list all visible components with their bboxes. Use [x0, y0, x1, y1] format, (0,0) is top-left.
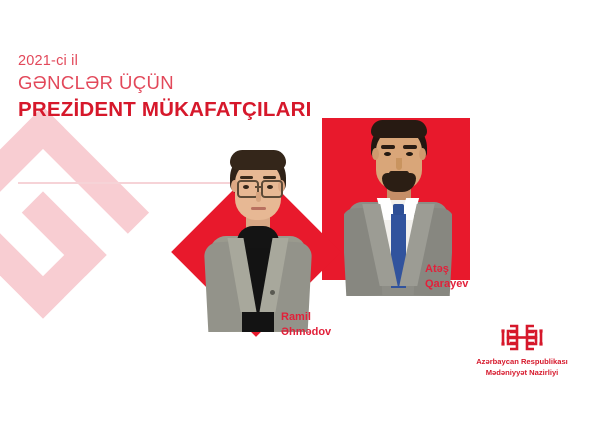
ministry-name-line1: Azərbaycan Respublikası [456, 356, 588, 367]
nose [256, 192, 261, 202]
eye-right [406, 152, 413, 156]
hair-fringe [230, 150, 286, 170]
page-title: PREZİDENT MÜKAFATÇILARI [18, 97, 348, 124]
moustache [389, 171, 409, 176]
watermark-bar [22, 107, 149, 234]
first-name: Atəş [425, 262, 468, 277]
name-label-ramil-ehmedov: Ramil Əhmədov [281, 310, 331, 340]
ear-right [419, 148, 426, 160]
blazer-button [270, 290, 275, 295]
eyebrow-right [263, 176, 276, 179]
first-name: Ramil [281, 310, 331, 325]
eyebrow-left [381, 145, 395, 149]
eye-left [384, 152, 391, 156]
eyeglasses-bridge [255, 186, 261, 188]
mouth [251, 207, 266, 210]
ear-left [372, 148, 379, 160]
poster-canvas: 2021-ci il GƏNCLƏR ÜÇÜN PREZİDENT MÜKAFA… [0, 0, 600, 448]
azerbaijan-culture-ministry-knot-icon [499, 322, 545, 353]
name-label-ates-qarayev: Atəş Qarayev [425, 262, 468, 292]
ministry-name-line2: Mədəniyyət Nazirliyi [456, 367, 588, 378]
last-name: Qarayev [425, 277, 468, 292]
title-year: 2021-ci il [18, 52, 348, 70]
pink-spiral-watermark [0, 107, 191, 404]
hair-fringe [371, 120, 427, 138]
title-block: 2021-ci il GƏNCLƏR ÜÇÜN PREZİDENT MÜKAFA… [18, 52, 348, 124]
photo-ramil-ehmedov [204, 150, 312, 332]
eyebrow-right [403, 145, 417, 149]
watermark-bar [22, 234, 107, 319]
watermark-bar [0, 191, 64, 318]
eyeglasses-lens-right [261, 180, 283, 198]
last-name: Əhmədov [281, 325, 331, 340]
eyebrow-left [240, 176, 253, 179]
title-subtitle: GƏNCLƏR ÜÇÜN [18, 71, 348, 95]
watermark-bar [22, 191, 107, 276]
necktie-knot [393, 204, 404, 215]
watermark-bar [0, 107, 64, 234]
ministry-logo: Azərbaycan Respublikası Mədəniyyət Nazir… [456, 322, 588, 378]
nose [396, 158, 402, 170]
